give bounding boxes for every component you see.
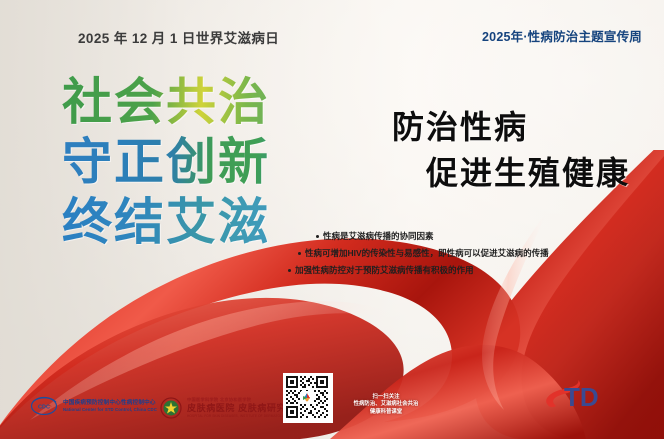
cdc-logo-text: 中国疾病预防控制中心性病控制中心 National Center for STD…	[63, 400, 157, 412]
hospital-emblem-icon	[160, 397, 182, 419]
qr-code[interactable]	[283, 373, 333, 423]
footer: CDC 中国疾病预防控制中心性病控制中心 National Center for…	[0, 369, 664, 439]
list-item-label: 性病是艾滋病传播的协同因素	[323, 228, 434, 245]
bullet-dot-icon	[288, 269, 291, 272]
right-title: 防治性病 促进生殖健康	[392, 104, 630, 196]
hospital-logo-text: 中国医学科学院 北京协和医学院 皮肤病医院 皮肤病研究所 HOSPITAL FO…	[187, 397, 296, 418]
main-title-line-2: 守正创新	[62, 132, 302, 192]
poster-root: 2025 年 12 月 1 日世界艾滋病日 2025年·性病防治主题宣传周 社会…	[0, 0, 664, 439]
list-item-label: 加强性病防控对于预防艾滋病传播有积极的作用	[295, 262, 474, 279]
list-item: 加强性病防控对于预防艾滋病传播有积极的作用	[288, 262, 588, 279]
hospital-name-en: HOSPITAL FOR SKIN DISEASES, INSTITUTE OF…	[187, 414, 296, 418]
std-logo: TD	[538, 375, 624, 415]
dermatology-hospital-logo: 中国医学科学院 北京协和医学院 皮肤病医院 皮肤病研究所 HOSPITAL FO…	[160, 397, 296, 419]
right-title-line-2: 促进生殖健康	[426, 150, 630, 196]
key-messages-list: 性病是艾滋病传播的协同因素 性病可增加HIV的传染性与易感性，即性病可以促进艾滋…	[288, 228, 588, 279]
world-aids-day-kicker: 2025 年 12 月 1 日世界艾滋病日	[78, 27, 279, 47]
svg-text:TD: TD	[564, 382, 599, 412]
china-cdc-logo: CDC 中国疾病预防控制中心性病控制中心 National Center for…	[30, 395, 157, 417]
qr-caption-line-3: 健康科普课堂	[340, 409, 432, 417]
list-item: 性病可增加HIV的传染性与易感性，即性病可以促进艾滋病的传播	[288, 245, 588, 262]
main-title-line-1: 社会共治	[62, 72, 302, 132]
svg-text:CDC: CDC	[38, 405, 50, 411]
main-title: 社会共治 守正创新 终结艾滋	[62, 72, 302, 252]
cdc-emblem-icon: CDC	[30, 395, 58, 417]
list-item: 性病是艾滋病传播的协同因素	[288, 228, 588, 245]
main-title-line-3: 终结艾滋	[62, 192, 302, 252]
qr-caption: 扫一扫关注 性病防治、艾滋病社会共治 健康科普课堂	[340, 394, 432, 417]
hospital-name-cn: 皮肤病医院 皮肤病研究所	[187, 403, 296, 415]
campaign-week-tag: 2025年·性病防治主题宣传周	[482, 26, 642, 45]
list-item-label: 性病可增加HIV的传染性与易感性，即性病可以促进艾滋病的传播	[305, 245, 549, 262]
qr-caption-line-2: 性病防治、艾滋病社会共治	[340, 401, 432, 409]
right-title-line-1: 防治性病	[392, 104, 630, 150]
cdc-name-en: National Center for STD Control, China C…	[63, 407, 157, 412]
bullet-dot-icon	[316, 235, 319, 238]
bullet-dot-icon	[298, 252, 301, 255]
cdc-name-cn: 中国疾病预防控制中心性病控制中心	[63, 400, 157, 407]
